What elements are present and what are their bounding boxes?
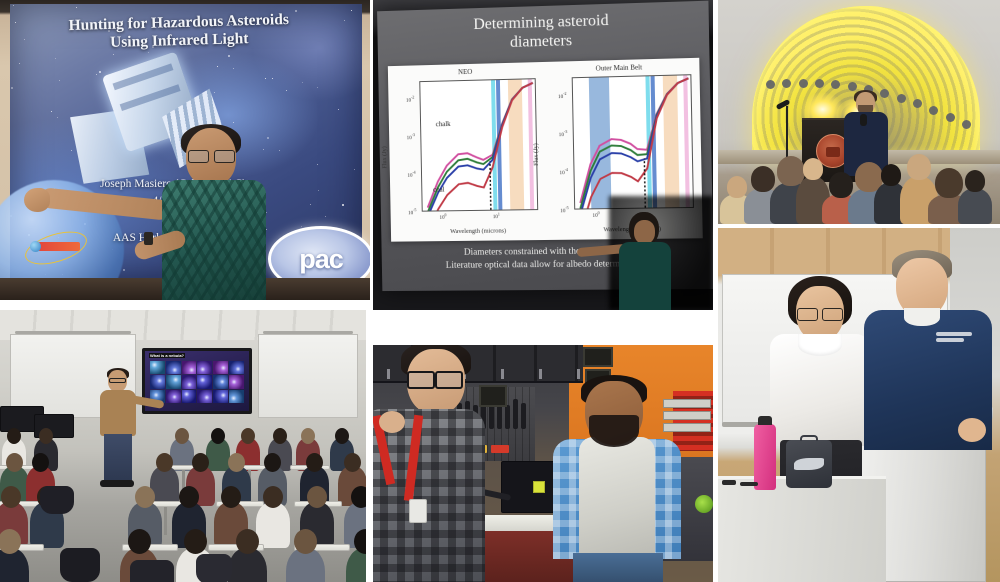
chart-ylabel: Flux (Jy)	[381, 146, 388, 168]
audience-row	[718, 158, 1000, 224]
chart-plot-area	[572, 74, 694, 209]
neowise-wordmark	[38, 242, 80, 251]
student-figure	[256, 502, 290, 548]
chart-series-line	[578, 78, 691, 208]
neowise-globe-icon	[30, 241, 41, 252]
presenter-left-collar	[798, 334, 842, 356]
wristwatch-icon	[144, 232, 153, 245]
student-head	[351, 486, 366, 508]
handheld-microphone-icon	[860, 114, 867, 126]
speaker-figure	[148, 128, 348, 300]
sticky-note	[533, 481, 545, 493]
chart-ytick-label: 10-2	[406, 95, 414, 104]
chart-ytick-label: 10-4	[407, 170, 415, 179]
presenter-right-figure	[866, 248, 990, 478]
chart-xtick-label: 100	[592, 210, 599, 219]
chart-neo: NEO Flux (Jy) Wavelength (microns) 10-21…	[392, 66, 543, 238]
display-slide-title: What is a nebula?	[149, 353, 185, 358]
backpack	[196, 554, 232, 582]
nebula-thumbnail	[166, 390, 181, 403]
whiteboard-right	[258, 334, 358, 418]
hand-tool	[513, 399, 518, 429]
panel-classroom-nebula-lesson: What is a nebula?	[0, 310, 366, 582]
panel-hazardous-asteroids-talk: Hunting for Hazardous Asteroids Using In…	[0, 0, 370, 300]
presenter-right-collar	[904, 308, 940, 326]
equipment-case	[786, 440, 832, 488]
audience-head	[727, 176, 747, 198]
student-head	[6, 453, 23, 472]
green-handwheel-icon	[695, 495, 713, 513]
hand-tool	[505, 405, 510, 429]
presenter-figure	[611, 212, 709, 310]
cabinet-handle	[539, 369, 542, 379]
cabinet-handle	[577, 369, 580, 379]
person-right-figure	[555, 381, 679, 582]
glasses-icon	[407, 371, 465, 385]
backpack	[130, 560, 174, 582]
student-head	[135, 486, 155, 508]
audience-head	[907, 154, 931, 180]
audience-head	[829, 172, 853, 198]
panel-solar-talk-auditorium	[718, 0, 1000, 224]
embroidered-logo-icon	[936, 332, 972, 344]
panel-makerspace-conversation	[373, 345, 713, 582]
small-tool	[740, 482, 758, 486]
nebula-thumbnail	[213, 375, 228, 388]
nebula-thumbnail	[150, 361, 165, 374]
chart-ytick-label: 10-5	[408, 207, 416, 216]
student-head	[335, 428, 349, 444]
student-head	[7, 428, 21, 444]
audience-head	[935, 168, 963, 198]
computer-monitor	[501, 461, 557, 513]
student-head	[179, 486, 199, 508]
nebula-thumbnail	[182, 361, 197, 374]
nebula-thumbnail	[229, 390, 244, 403]
slide-title: Determining asteroid diameters	[404, 10, 680, 55]
person-left-plaid-shirt	[373, 409, 485, 582]
nebula-thumbnail	[166, 375, 181, 388]
nebula-thumbnail	[197, 375, 212, 388]
neowise-logo-icon	[22, 226, 90, 268]
backpack	[60, 548, 100, 582]
photo-collage: Hunting for Hazardous Asteroids Using In…	[0, 0, 1000, 582]
student-head	[175, 428, 189, 444]
student-head	[273, 428, 287, 444]
instructor-shoes	[100, 480, 134, 487]
person-right-beard	[589, 415, 639, 447]
student-head	[241, 428, 255, 444]
chart-xtick-label: 101	[493, 212, 500, 221]
student-head	[301, 428, 315, 444]
framed-certificate	[583, 347, 613, 367]
nebula-thumbnail	[150, 375, 165, 388]
speaker-hand	[24, 188, 50, 212]
nebula-thumbnail	[213, 361, 228, 374]
counter-small-items	[722, 478, 762, 490]
chart-annotation: chalk	[436, 120, 451, 128]
desk-leg	[164, 507, 167, 535]
chart-ytick-label: 10-3	[559, 129, 568, 138]
chart-dotted-marker	[490, 161, 491, 209]
chart-ytick-label: 10-4	[559, 167, 568, 176]
audience-head	[881, 164, 901, 186]
case-logo-icon	[794, 458, 824, 470]
nebula-thumbnail	[182, 390, 197, 403]
chart-title: NEO	[392, 66, 540, 78]
person-left-hand	[379, 411, 405, 433]
student-head	[211, 428, 225, 444]
bottle-cap	[758, 416, 772, 425]
audience-member	[958, 188, 992, 224]
person-left-figure	[373, 349, 505, 582]
chart-series-line	[578, 78, 691, 203]
student-head	[344, 453, 361, 472]
presenter-head	[634, 220, 655, 244]
student-head	[228, 453, 245, 472]
instructor-sweater	[100, 390, 136, 436]
student-head	[294, 529, 317, 554]
nebula-thumbnail	[166, 361, 181, 374]
student-head	[221, 486, 241, 508]
nebula-thumbnail	[197, 390, 212, 403]
hand-tool	[521, 403, 526, 429]
nebula-thumbnail	[182, 375, 197, 388]
chart-ylabel: Flux (Jy)	[532, 143, 539, 166]
panel-two-presenters-lectern	[718, 228, 1000, 582]
student-head	[39, 428, 53, 444]
small-tool	[722, 480, 736, 485]
id-badge	[409, 499, 427, 523]
glasses-icon	[109, 378, 126, 383]
marker-tray	[263, 331, 353, 334]
student-head	[1, 486, 21, 508]
student-head	[184, 529, 207, 554]
student-head	[306, 453, 323, 472]
chart-title: Outer Main Belt	[543, 62, 695, 74]
person-right-sweater-vest	[579, 437, 655, 561]
student-head	[128, 529, 151, 554]
nebula-thumbnail-grid	[150, 361, 244, 403]
student-head	[192, 453, 209, 472]
student-head	[32, 453, 49, 472]
nebula-thumbnail	[197, 361, 212, 374]
nebula-thumbnail	[229, 375, 244, 388]
person-right-jeans	[573, 553, 663, 582]
audience-head	[751, 166, 775, 192]
chart-ytick-label: 10-2	[558, 91, 567, 100]
presenter-shirt	[619, 242, 671, 310]
chart-xlabel: Wavelength (microns)	[414, 227, 542, 235]
student-head	[236, 529, 259, 554]
lab-counter	[718, 476, 886, 582]
panel-asteroid-diameters-slide: Determining asteroid diameters NEO Flux …	[373, 0, 713, 310]
student-head	[264, 453, 281, 472]
student-head	[307, 486, 327, 508]
student-head	[263, 486, 283, 508]
marker-tray	[15, 331, 131, 334]
backpack	[40, 486, 74, 514]
glasses-icon	[797, 308, 843, 319]
case-handle	[800, 435, 818, 441]
microphone-stand-icon	[786, 106, 788, 162]
audience-head	[965, 170, 985, 192]
nebula-thumbnail	[213, 390, 228, 403]
instructor-figure	[96, 370, 142, 488]
chart-annotation: coal	[433, 186, 445, 194]
presenter-right-hand	[958, 418, 986, 442]
nebula-thumbnail	[229, 361, 244, 374]
chart-curves	[573, 75, 693, 208]
chart-ytick-label: 10-5	[560, 205, 569, 214]
audience-head	[803, 158, 823, 180]
student-head	[156, 453, 173, 472]
instructor-jeans	[104, 434, 132, 482]
chart-ytick-label: 10-3	[407, 132, 415, 141]
chart-xtick-label: 100	[439, 212, 446, 221]
glasses-icon	[188, 150, 235, 161]
